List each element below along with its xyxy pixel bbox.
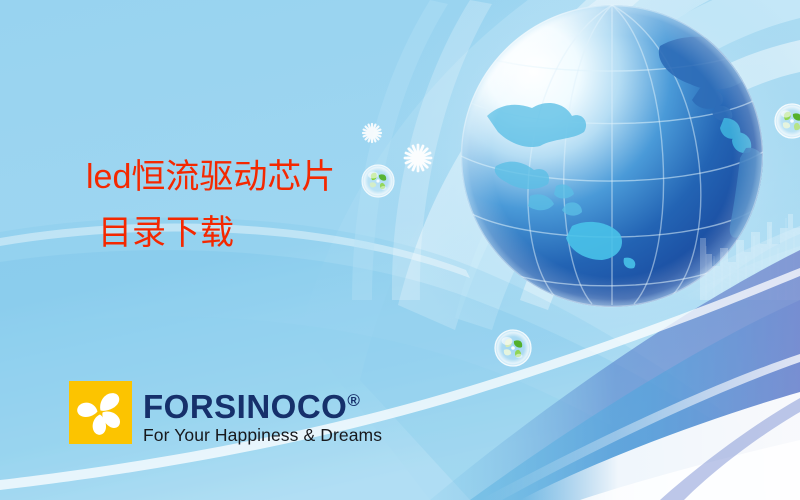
logo-wordmark: FORSINOCO® [143,384,382,424]
starburst-small [363,124,381,142]
forsinoco-pinwheel-mark [69,381,132,444]
logo-text-block: FORSINOCO® For Your Happiness & Dreams [143,381,382,445]
registered-trademark-icon: ® [347,391,360,410]
company-logo: FORSINOCO® For Your Happiness & Dreams [69,381,382,445]
logo-tagline: For Your Happiness & Dreams [143,425,382,445]
promo-banner: led恒流驱动芯片 目录下载 FORSINOCO® For Your Happ [0,0,800,500]
pinwheel-petals-icon [69,381,132,444]
bubble-green-pinwheel-left [362,165,394,197]
logo-wordmark-text: FORSINOCO [143,388,347,425]
bubble-green-pinwheel-center [495,330,531,366]
starburst-large [405,145,431,171]
